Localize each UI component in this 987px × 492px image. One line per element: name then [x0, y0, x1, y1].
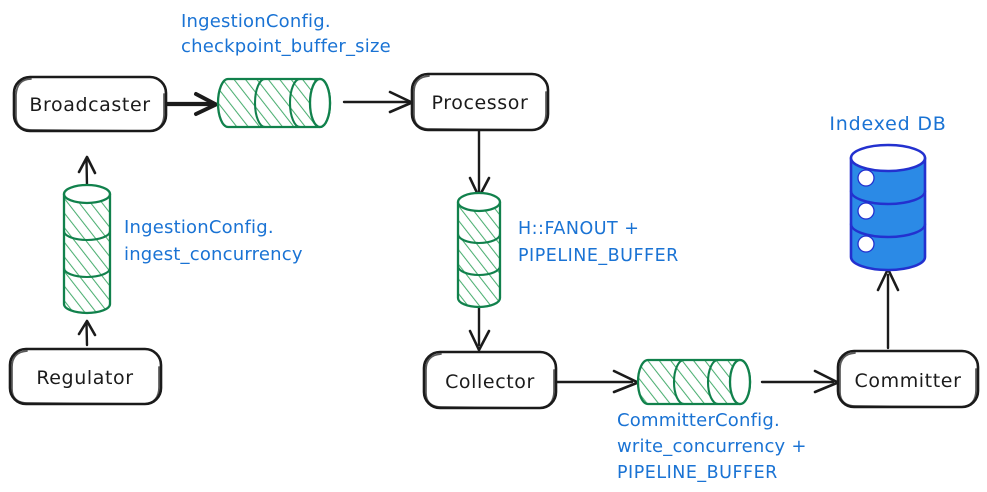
edge-ingest-buffer-to-broadcaster — [79, 157, 95, 186]
node-regulator-label: Regulator — [36, 367, 133, 389]
edge-broadcaster-to-checkpoint-buffer — [166, 94, 216, 114]
edge-collector-to-write-buffer — [556, 371, 638, 392]
checkpoint-annotation-line-2: checkpoint_buffer_size — [181, 36, 391, 57]
node-broadcaster-label: Broadcaster — [29, 94, 150, 116]
ingest-annotation-line-2: ingest_concurrency — [124, 244, 303, 265]
database-label: Indexed DB — [829, 113, 946, 135]
edge-checkpoint-buffer-to-processor — [344, 92, 412, 112]
diagram-svg: Broadcaster Processor Regulator Collecto… — [0, 0, 987, 492]
node-committer[interactable]: Committer — [838, 351, 978, 407]
node-regulator[interactable]: Regulator — [10, 349, 161, 404]
fanout-annotation: H::FANOUT + PIPELINE_BUFFER — [518, 219, 679, 266]
edge-processor-to-fanout-buffer — [470, 131, 489, 197]
edge-regulator-to-ingest-buffer — [79, 321, 95, 345]
write-annotation: CommitterConfig. write_concurrency + PIP… — [617, 410, 807, 483]
node-processor-label: Processor — [432, 92, 529, 114]
db-indicator-dot — [858, 236, 874, 252]
write-annotation-line-1: CommitterConfig. — [617, 410, 780, 431]
edge-write-buffer-to-committer — [762, 371, 838, 392]
node-collector-label: Collector — [445, 371, 535, 393]
db-indicator-dot — [858, 203, 874, 219]
buffer-fanout-buffer — [458, 193, 500, 307]
write-annotation-line-2: write_concurrency + — [617, 436, 807, 457]
database-indexed-db[interactable] — [851, 145, 925, 270]
diagram-canvas: Broadcaster Processor Regulator Collecto… — [0, 0, 987, 492]
ingest-annotation: IngestionConfig. ingest_concurrency — [124, 217, 303, 265]
db-indicator-dot — [858, 170, 874, 186]
checkpoint-annotation-line-1: IngestionConfig. — [181, 11, 331, 32]
write-annotation-line-3: PIPELINE_BUFFER — [617, 463, 778, 483]
node-broadcaster[interactable]: Broadcaster — [14, 77, 166, 131]
node-collector[interactable]: Collector — [424, 352, 556, 408]
buffer-ingest-buffer — [64, 185, 110, 313]
node-committer-label: Committer — [855, 370, 962, 392]
edge-committer-to-database — [878, 269, 898, 348]
fanout-annotation-line-1: H::FANOUT + — [518, 219, 639, 239]
checkpoint-annotation: IngestionConfig. checkpoint_buffer_size — [181, 11, 391, 57]
node-processor[interactable]: Processor — [412, 74, 548, 130]
buffer-write-buffer — [638, 360, 750, 404]
ingest-annotation-line-1: IngestionConfig. — [124, 217, 274, 238]
buffer-checkpoint-buffer — [218, 79, 330, 127]
fanout-annotation-line-2: PIPELINE_BUFFER — [518, 246, 679, 266]
